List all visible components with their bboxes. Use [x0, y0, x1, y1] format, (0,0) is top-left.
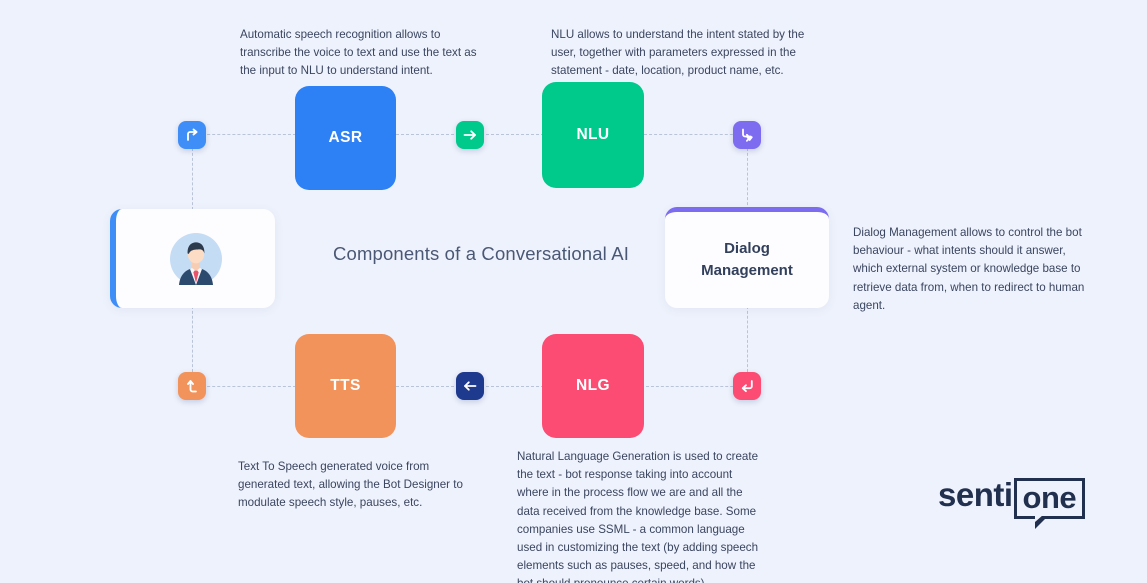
arrow-right-icon: [462, 127, 478, 143]
component-dialog-management-label: Dialog Management: [701, 238, 793, 283]
logo-speech-bubble: one: [1014, 478, 1086, 519]
note-asr: Automatic speech recognition allows to t…: [240, 26, 486, 81]
badge-asr-to-nlu[interactable]: [456, 121, 484, 149]
component-asr[interactable]: ASR: [295, 86, 396, 190]
badge-tts-to-user[interactable]: [178, 372, 206, 400]
diagram-canvas: ASR NLU TTS NLG Dialog Management: [0, 0, 1147, 583]
arrow-turn-up-icon: [184, 378, 200, 394]
connector-user-to-asr-horizontal: [192, 134, 296, 135]
component-nlg[interactable]: NLG: [542, 334, 644, 438]
arrow-turn-left-icon: [739, 378, 755, 394]
dialog-label-line-2: Management: [701, 260, 793, 283]
badge-nlg-to-tts[interactable]: [456, 372, 484, 400]
component-asr-label: ASR: [329, 129, 363, 147]
connector-nlu-to-dialog-vertical: [747, 148, 748, 210]
user-card[interactable]: [110, 209, 275, 308]
arrow-turn-right-icon: [184, 127, 200, 143]
component-nlu-label: NLU: [576, 126, 609, 144]
badge-dialog-to-nlg[interactable]: [733, 372, 761, 400]
note-nlg: Natural Language Generation is used to c…: [517, 448, 765, 583]
businessman-avatar: [170, 233, 222, 285]
component-tts[interactable]: TTS: [295, 334, 396, 438]
component-tts-label: TTS: [330, 377, 360, 395]
connector-dialog-to-nlg-vertical: [747, 306, 748, 372]
component-nlu[interactable]: NLU: [542, 82, 644, 188]
badge-nlu-to-dialog[interactable]: [733, 121, 761, 149]
logo-text-senti: senti: [938, 478, 1013, 511]
component-nlg-label: NLG: [576, 377, 610, 395]
badge-user-out[interactable]: [178, 121, 206, 149]
note-nlu: NLU allows to understand the intent stat…: [551, 26, 813, 81]
logo-text-one: one: [1023, 480, 1077, 515]
page-title: Components of a Conversational AI: [333, 243, 629, 265]
note-tts: Text To Speech generated voice from gene…: [238, 458, 474, 513]
arrow-turn-down-icon: [739, 127, 755, 143]
sentione-logo: senti one: [938, 478, 1085, 519]
connector-tts-to-user-horizontal: [192, 386, 296, 387]
businessman-avatar-icon: [170, 233, 222, 285]
arrow-left-icon: [462, 378, 478, 394]
connector-tts-to-user-vertical: [192, 306, 193, 372]
connector-user-to-asr-vertical: [192, 148, 193, 210]
component-dialog-management[interactable]: Dialog Management: [665, 207, 829, 308]
note-dialog: Dialog Management allows to control the …: [853, 224, 1098, 315]
logo-bubble-tail-inner: [1035, 515, 1043, 522]
dialog-label-line-1: Dialog: [701, 238, 793, 261]
